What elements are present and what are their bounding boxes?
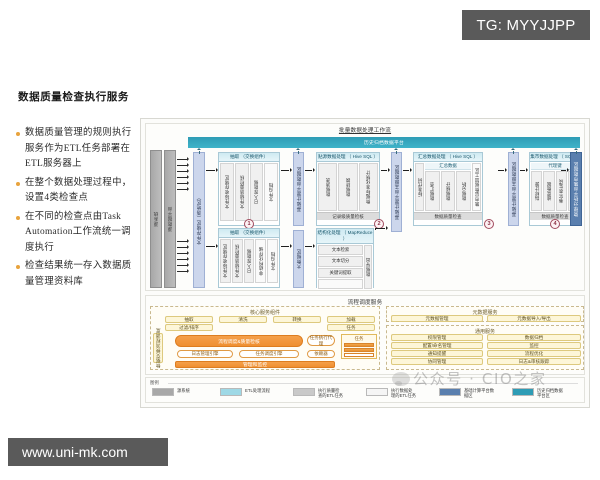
legend-text: ETL处理流程 [245,388,270,396]
cell-market-layer: 集市层数据加工区 [472,163,481,211]
scheduling-services-title: 流程调度服务 [146,298,584,306]
etl-step-extract[interactable]: 抽取 [165,316,213,323]
legend-swatch [512,388,534,396]
cell-data-export: 数据导出 [364,245,372,289]
stage-source-data-footer: 记录级质量检核 [317,212,379,220]
up-arrow-final [574,148,579,154]
stage-structuring-header: 结构化处理 （ MapReduce ） [317,229,373,244]
scheduling-services-panel: 流程调度服务 核心服务组件 数据交换流程调度 抽取 清洗 转换 加载 过滤/排序… [145,295,585,375]
cell: 指标计算 [531,171,542,211]
cell-standard-code: 标准代码 [415,163,424,211]
general-monitoring[interactable]: 监控 [487,342,581,349]
stage-extract-bottom[interactable]: 抽取 （交换组件） 文件接收存储区 文件级质量检核 已入库数据 非结构化存储 文… [218,228,280,288]
etl-step-transform[interactable]: 转换 [273,316,321,323]
general-services-group: 通用服务 权限管理 数据归档 配置/命名管理 监控 通知提醒 流程优化 协同管理… [386,325,584,370]
flow-arrow [561,168,569,173]
etl-task-label[interactable]: 任务 [327,324,375,331]
cell: 文本检索 [318,245,363,255]
bullet-text: 在整个数据处理过程中，设置4类检查点 [25,176,136,207]
orchestration-quality-pill[interactable]: 流程调度&质量检核 [175,335,303,347]
flow-arrow [381,168,390,173]
staging-zone-label: 文件存储区（落地区） [196,195,202,245]
flow-arrow [281,168,292,173]
legend-swatch [366,388,388,396]
history-archive-platform-bar: 历史归档数据平台 [188,137,580,148]
cell: 数据分析 [456,171,471,211]
metadata-management[interactable]: 元数据管理 [391,315,483,322]
core-service-components-title: 核心服务组件 [151,309,379,316]
bullet-dot-icon [16,265,20,269]
list-item: 数据质量管理的规则执行服务作为ETL任务部署在ETL服务器上 [16,126,136,173]
cell: 已入库数据 [250,163,264,221]
stage-extract-bottom-header: 抽取 （交换组件） [219,229,279,238]
legend-item: ETL处理流程 [220,388,270,396]
data-exchange-side-label: 数据交换流程调度 [153,333,163,363]
list-item: 在整个数据处理过程中，设置4类检查点 [16,176,136,207]
arrow-cluster-upper [177,156,193,192]
cell: 文件归档 [267,239,278,283]
stage-summary-header: 汇总数据处理 （ Hive SQL ） [414,153,482,162]
metadata-import-export[interactable]: 元数据导入/导出 [487,315,581,322]
legend-swatch [152,388,174,396]
stage-source-data-hive[interactable]: 贴源数据处理 （ Hive SQL ） 数据清洗 数据转换 数据标准化统计 记录… [316,152,380,226]
big-data-zone-label: 大数据区 [296,249,302,269]
task-execution-agent[interactable]: 任务执行代理 [307,335,335,346]
flow-arrow [206,168,218,173]
dependency-resolver[interactable]: 依赖器 [307,350,335,358]
cell [318,279,363,289]
tg-badge-label: TG: MYYJJPP [477,17,576,34]
batch-workflow-panel: 批量数据处理工作流 历史归档数据平台 源系统 源数据平台 文件存储区（落地区） [145,123,585,291]
staging-zone-bar: 文件存储区（落地区） [193,152,205,288]
legend-divider [168,383,578,384]
source-data-platform-label: 源数据平台 [167,207,173,232]
analysis-platform-market-zone: 管理分析平台集市数据区 [570,152,582,226]
legend-item: 基础计算平台数 据区 [439,388,494,398]
arrow-cluster-lower [177,238,193,274]
legend-item: 源系统 [152,388,190,396]
legend-item: 执行质量检 查的ETL任务 [293,388,343,398]
flow-arrow [375,226,388,231]
cell: 文件归档 [264,163,278,221]
stage-summary-hive[interactable]: 汇总数据处理 （ Hive SQL ） 标准代码 汇总数据 数据汇总 数据统计 … [413,152,483,226]
legend-item: 历史归档数据 平台区 [512,388,563,398]
general-log-audit[interactable]: 日志&审核跟踪 [487,358,581,365]
general-config-naming[interactable]: 配置/命名管理 [391,342,483,349]
flow-arrow [403,168,412,173]
basic-compute-zone-3-label: 基础计算平台主题数据区 [511,162,517,217]
source-data-platform-bar: 源数据平台 [164,150,176,288]
site-url-label: www.uni-mk.com [22,444,128,460]
up-arrow-zone1 [296,148,301,154]
flow-arrow [206,244,218,249]
cell: 已入库数据 [244,239,255,283]
task-row[interactable] [344,343,374,347]
cell: 文件接收存储区 [220,239,231,283]
source-system-bar: 源系统 [150,150,162,288]
tg-badge: TG: MYYJJPP [462,10,590,40]
etl-step-load[interactable]: 加载 [327,316,375,323]
architecture-diagram: 批量数据处理工作流 历史归档数据平台 源系统 源数据平台 文件存储区（落地区） [140,118,590,408]
bullet-text: 数据质量管理的规则执行服务作为ETL任务部署在ETL服务器上 [25,126,136,173]
task-row[interactable] [344,353,374,357]
log-management-engine[interactable]: 日志管理引擎 [177,350,233,358]
batch-workflow-title: 批量数据处理工作流 [146,126,584,134]
list-item: 在不同的检查点由Task Automation工作流统一调度执行 [16,210,136,257]
general-collaboration[interactable]: 协同管理 [391,358,483,365]
basic-compute-zone-2-label: 基础计算平台主题数据区 [394,165,400,220]
basic-compute-zone-1-label: 基础计算平台数据区 [296,167,302,212]
task-scheduling-engine[interactable]: 任务调度引擎 [239,350,299,358]
flow-arrow [520,168,528,173]
legend: 图例 源系统 ETL处理流程 执行质量检 查的ETL任务 执行数据处 理的ETL… [145,377,585,403]
page-title: 数据质量检查执行服务 [18,89,129,104]
flow-arrow [281,244,292,249]
legend-swatch [293,388,315,396]
cell: 数据清洗 [318,163,337,211]
bullet-list: 数据质量管理的规则执行服务作为ETL任务部署在ETL服务器上 在整个数据处理过程… [16,126,136,293]
list-item: 检查结果统一存入数据质量管理资料库 [16,259,136,290]
stage-structuring-mapreduce[interactable]: 结构化处理 （ MapReduce ） 文本检索 文本切分 关键词提取 数据导出 [316,228,374,288]
up-arrow-zone2 [394,148,399,154]
cell: 文件级质量检核 [235,163,249,221]
cell: 数据统计 [441,171,456,211]
cell: 维度数据 [543,171,554,211]
metadata-services-group: 元数据服务 元数据管理 元数据导入/导出 [386,306,584,322]
stage-extract-top[interactable]: 抽取 （交换组件） 文件接收存储区 文件级质量检核 已入库数据 文件归档 [218,152,280,226]
cell: 关键词提取 [318,268,363,278]
cell: 文件接收存储区 [220,163,234,221]
general-process-optimization[interactable]: 流程优化 [487,350,581,357]
cell: 事实表生成 [556,171,567,211]
basic-compute-zone-2: 基础计算平台主题数据区 [391,152,402,232]
general-permission-management[interactable]: 权限管理 [391,334,483,341]
stage-summary-subheader: 汇总数据 [425,163,471,170]
cell: 数据标准化统计 [359,163,378,211]
cell: 数据汇总 [425,171,440,211]
bullet-dot-icon [16,216,20,220]
cell: 文本切分 [318,256,363,266]
cell: 非结构化存储 [255,239,266,283]
up-arrow-zone3 [511,148,516,154]
basic-compute-zone-1: 基础计算平台数据区 [293,152,304,226]
stage-extract-top-header: 抽取 （交换组件） [219,153,279,162]
general-notification[interactable]: 通知提醒 [391,350,483,357]
checkpoint-badge-4: 4 [550,219,560,229]
flow-arrow [305,244,315,249]
legend-text: 执行质量检 查的ETL任务 [318,388,343,398]
checkpoint-badge-3: 3 [484,219,494,229]
stage-summary-footer: 数据质量检查 [414,212,482,220]
legend-swatch [439,388,461,396]
legend-text: 基础计算平台数 据区 [464,388,494,398]
legend-text: 历史归档数据 平台区 [537,388,563,398]
management-monitoring-bar[interactable]: 管理和监控 [175,361,335,368]
up-arrow-staging [197,148,202,154]
site-url-badge: www.uni-mk.com [8,438,168,466]
source-system-label: 源系统 [153,212,159,227]
legend-title: 图例 [150,380,159,386]
general-data-archive[interactable]: 数据归档 [487,334,581,341]
etl-step-filter-sort[interactable]: 过滤/排序 [165,324,213,331]
flow-arrow [498,168,507,173]
task-row[interactable] [344,348,374,352]
task-list-title: 任务 [342,336,376,342]
legend-text: 执行数据处 理的ETL任务 [391,388,416,398]
cell: 文件级质量检核 [232,239,243,283]
legend-swatch [220,388,242,396]
legend-text: 源系统 [177,388,190,396]
task-list-panel[interactable]: 任务 [341,334,377,359]
cell: 数据转换 [338,163,357,211]
stage-source-data-header: 贴源数据处理 （ Hive SQL ） [317,153,379,162]
analysis-platform-label: 管理分析平台集市数据区 [573,162,579,217]
core-service-components-group: 核心服务组件 数据交换流程调度 抽取 清洗 转换 加载 过滤/排序 任务 流程调… [150,306,380,370]
basic-compute-zone-3: 基础计算平台主题数据区 [508,152,519,226]
etl-step-clean[interactable]: 清洗 [219,316,267,323]
bullet-dot-icon [16,182,20,186]
big-data-zone: 大数据区 [293,230,304,288]
legend-item: 执行数据处 理的ETL任务 [366,388,416,398]
bullet-text: 在不同的检查点由Task Automation工作流统一调度执行 [25,210,136,257]
flow-arrow [305,168,315,173]
bullet-text: 检查结果统一存入数据质量管理资料库 [25,259,136,290]
bullet-dot-icon [16,132,20,136]
